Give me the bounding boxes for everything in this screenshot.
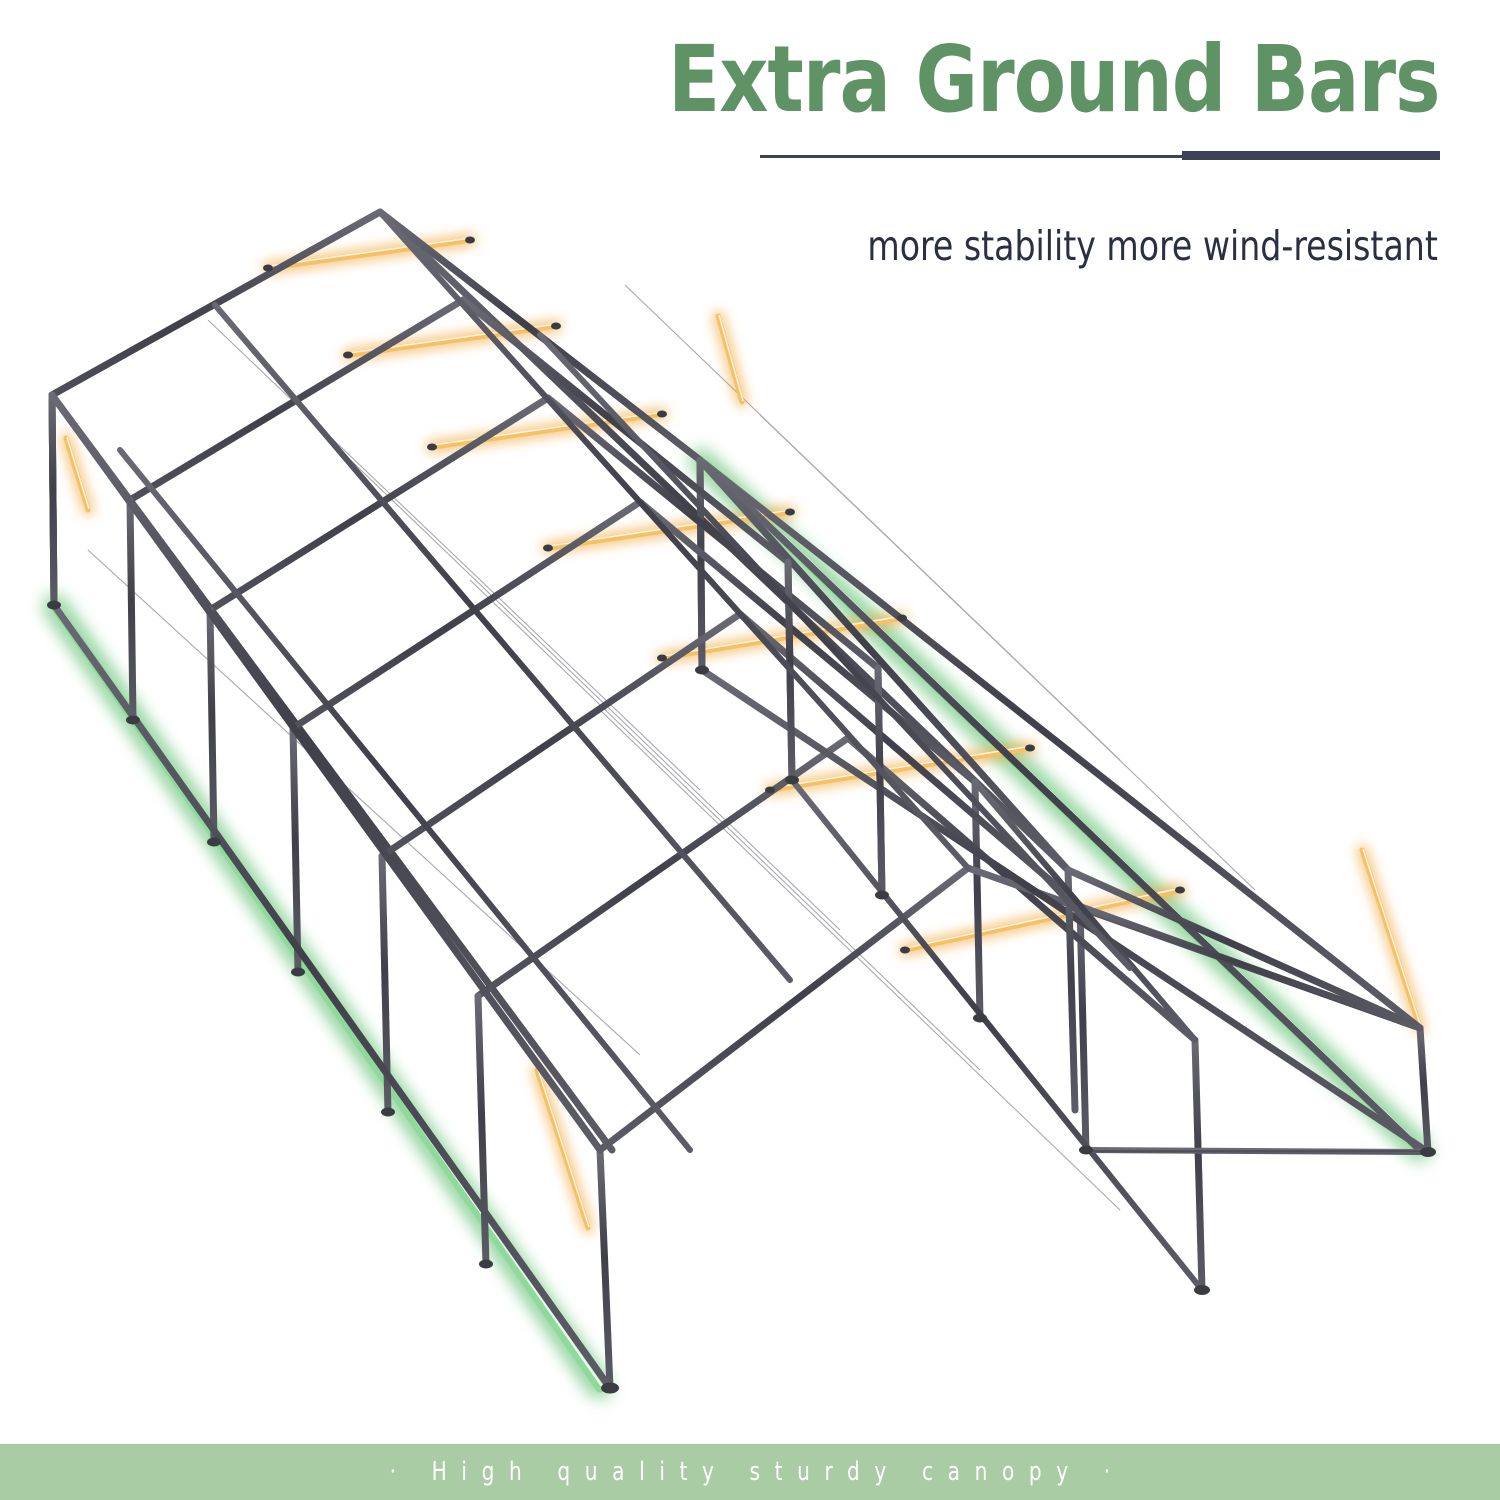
right-ground-rail [702, 670, 1428, 1152]
page-title: Extra Ground Bars [669, 34, 1440, 126]
canopy-frame-illustration [0, 150, 1500, 1440]
truss-rib-7 [600, 868, 1428, 1388]
product-feature-page: Extra Ground Bars more stability more wi… [0, 0, 1500, 1500]
canopy-frame-svg [0, 150, 1500, 1440]
left-eave-rail [52, 395, 600, 1150]
right-lower-rail [792, 780, 1202, 1290]
footer-tagline: · High quality sturdy canopy · [375, 1457, 1125, 1487]
footer-banner: · High quality sturdy canopy · [0, 1444, 1500, 1500]
frame-group [47, 212, 1436, 1394]
truss-rib-2 [130, 300, 792, 780]
corner-braces-highlight [66, 315, 1421, 1228]
